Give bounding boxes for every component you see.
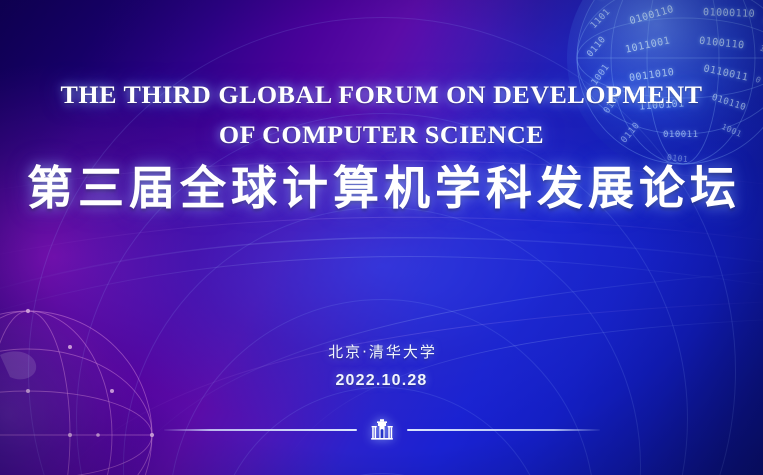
tsinghua-gate-emblem-icon: [367, 417, 397, 443]
banner-content: THE THIRD GLOBAL FORUM ON DEVELOPMENT OF…: [0, 0, 763, 475]
english-title-line-1: THE THIRD GLOBAL FORUM ON DEVELOPMENT: [0, 80, 763, 110]
event-location: 北京·清华大学: [0, 340, 763, 364]
divider: [164, 415, 600, 445]
divider-rule-right: [407, 429, 600, 431]
conference-banner: 01001 1010011 0 1 1 0101 0010011 010011 …: [0, 0, 763, 475]
event-date: 2022.10.28: [0, 370, 763, 392]
event-meta: 北京·清华大学 2022.10.28: [0, 340, 763, 392]
chinese-title: 第三届全球计算机学科发展论坛: [0, 159, 763, 217]
english-title-line-2: OF COMPUTER SCIENCE: [0, 120, 763, 150]
divider-rule-left: [164, 429, 357, 431]
